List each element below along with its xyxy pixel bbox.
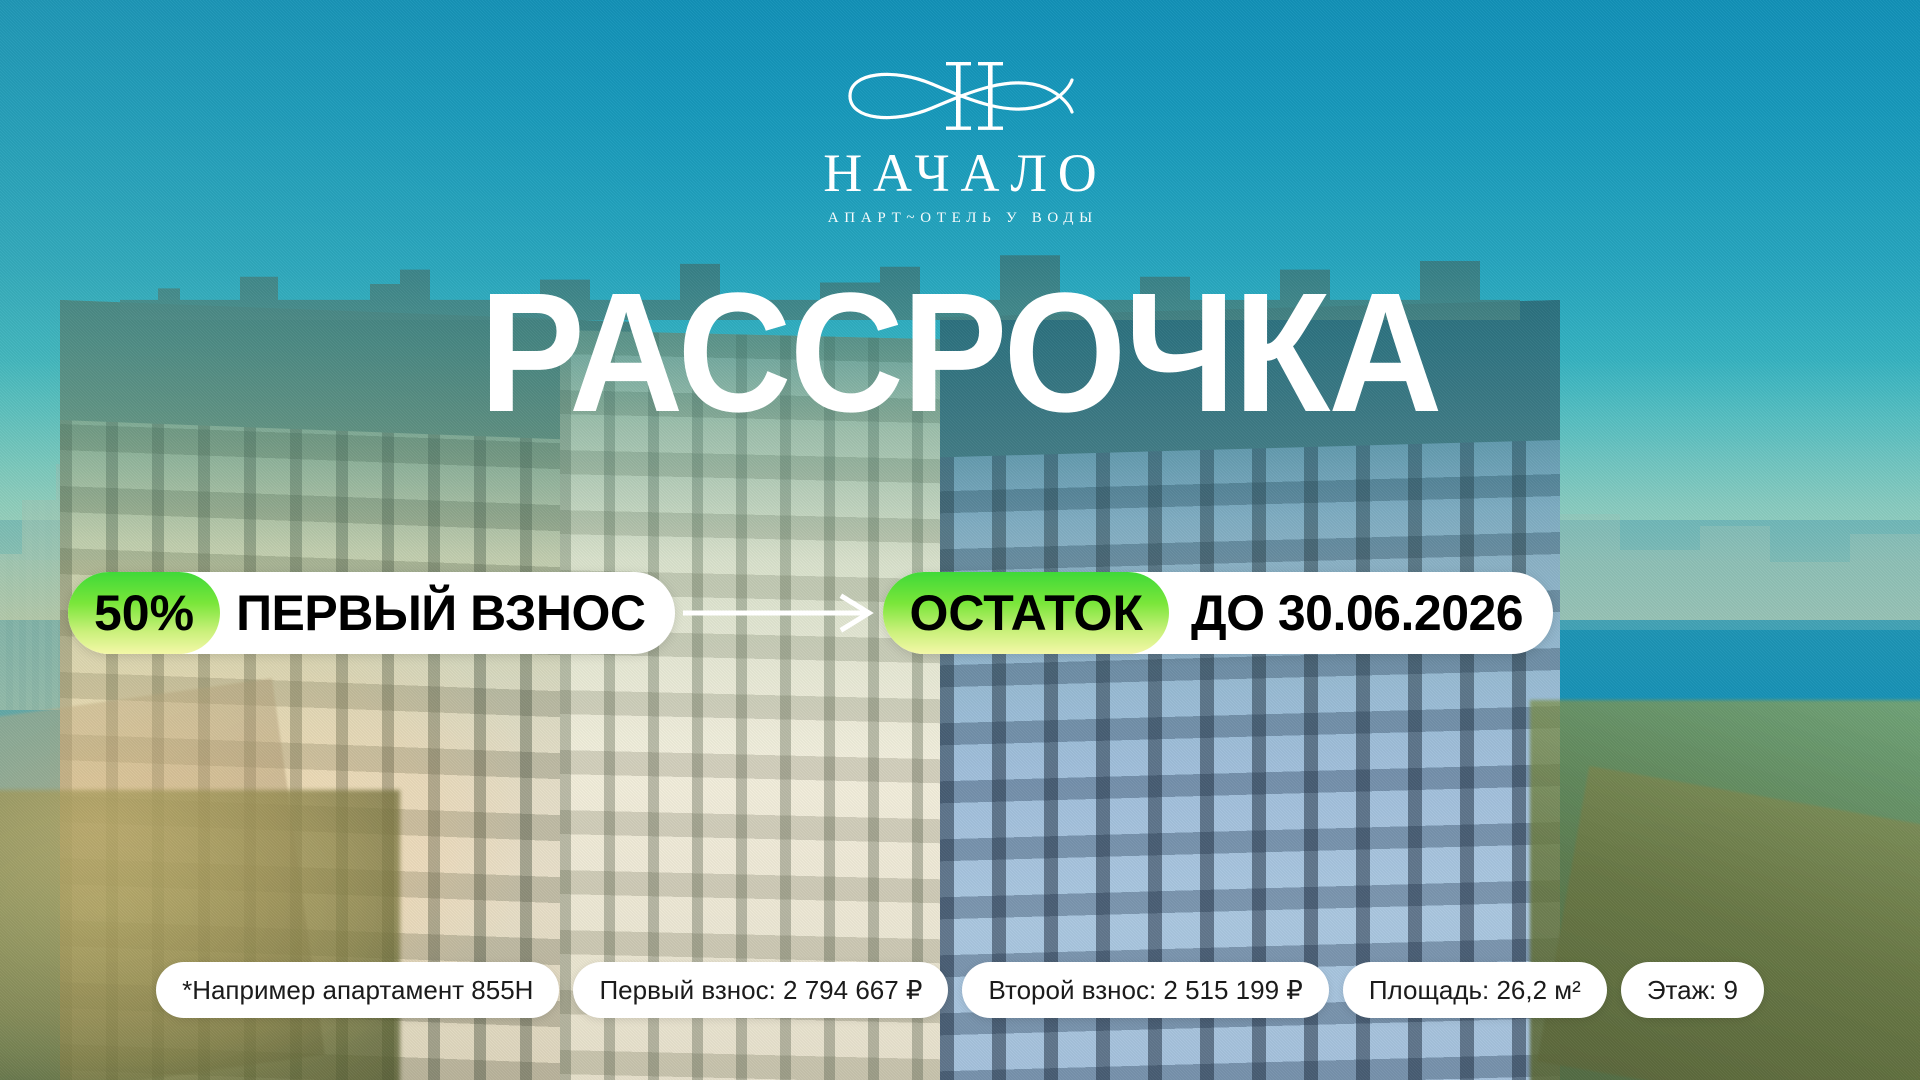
brand-logo: НАЧАЛО АПАРТ~ОТЕЛЬ У ВОДЫ xyxy=(700,56,1220,227)
facts-bar: *Например апартамент 855Н Первый взнос: … xyxy=(0,962,1920,1018)
first-payment-label: ПЕРВЫЙ ВЗНОС xyxy=(220,584,675,642)
brand-name: НАЧАЛО xyxy=(711,146,1220,200)
fact-first-payment: Первый взнос: 2 794 667 ₽ xyxy=(573,962,948,1018)
brand-tagline: АПАРТ~ОТЕЛЬ У ВОДЫ xyxy=(706,210,1220,227)
banner-content: НАЧАЛО АПАРТ~ОТЕЛЬ У ВОДЫ РАССРОЧКА 50% … xyxy=(0,0,1920,1080)
percent-badge: 50% xyxy=(68,572,220,654)
offer-row: 50% ПЕРВЫЙ ВЗНОС ОСТАТОК ДО 30.06.2026 xyxy=(0,572,1920,654)
fact-example-apartment: *Например апартамент 855Н xyxy=(156,962,559,1018)
promo-banner: НАЧАЛО АПАРТ~ОТЕЛЬ У ВОДЫ РАССРОЧКА 50% … xyxy=(0,0,1920,1080)
fact-floor: Этаж: 9 xyxy=(1621,962,1764,1018)
remainder-badge: ОСТАТОК xyxy=(883,572,1168,654)
deadline-label: ДО 30.06.2026 xyxy=(1169,584,1553,642)
page-title: РАССРОЧКА xyxy=(479,270,1440,437)
arrow-right-icon xyxy=(675,572,883,654)
fact-second-payment: Второй взнос: 2 515 199 ₽ xyxy=(962,962,1328,1018)
fact-area: Площадь: 26,2 м² xyxy=(1343,962,1607,1018)
monogram-infinity-n-icon xyxy=(840,56,1080,136)
remainder-pill[interactable]: ОСТАТОК ДО 30.06.2026 xyxy=(883,572,1553,654)
first-payment-pill[interactable]: 50% ПЕРВЫЙ ВЗНОС xyxy=(68,572,675,654)
